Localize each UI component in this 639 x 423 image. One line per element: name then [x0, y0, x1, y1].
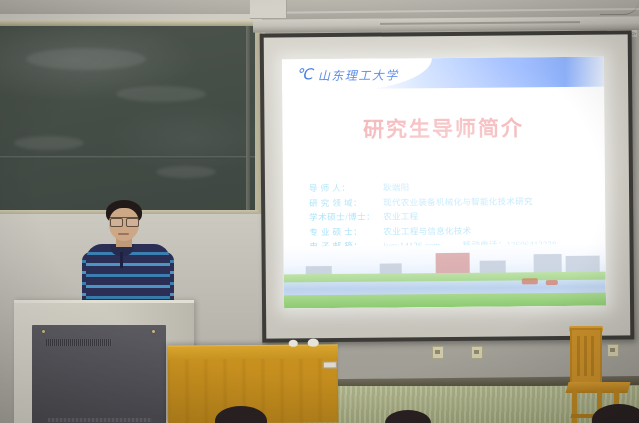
slide-row-value: 农业工程 [383, 209, 418, 224]
screen-roller-housing [250, 0, 287, 19]
slide-row-label: 研 究 领 域： [309, 195, 383, 210]
photo-building [534, 254, 562, 273]
chair-leg [572, 391, 577, 423]
wall-socket [432, 346, 444, 359]
desk-object [289, 340, 298, 347]
lecture-hall-photo: EMERGENCY ℃ 山东理工大学 研究生导师简介 导 师 人： 耿端阳 [0, 0, 639, 423]
blackboard [0, 26, 255, 214]
lectern-equipment-panel [32, 325, 166, 423]
chalk-smudge [116, 86, 206, 102]
chair-slat [584, 336, 587, 376]
desk-top-surface [168, 344, 338, 359]
wall-socket [471, 346, 483, 359]
logo-institution-name: 山东理工大学 [318, 66, 399, 84]
glasses-right-lens [126, 218, 139, 227]
photo-pavilion [546, 280, 558, 285]
slide-row-label: 导 师 人： [309, 181, 383, 196]
slide-row-value: 耿端阳 [383, 180, 410, 195]
lectern-vent-grille [46, 339, 112, 346]
presenter-mouth [118, 233, 129, 235]
photo-building [436, 253, 470, 274]
desk-nameplate [323, 361, 337, 368]
logo-mark-icon: ℃ [296, 68, 313, 83]
presentation-slide: ℃ 山东理工大学 研究生导师简介 导 师 人： 耿端阳 研 究 领 域： 现代农… [282, 57, 606, 309]
panel-screw [42, 330, 45, 333]
chalk-smudge [14, 136, 84, 150]
chalk-smudge [26, 48, 146, 70]
panel-screw [152, 330, 155, 333]
campus-panorama-photo [284, 244, 607, 309]
university-logo: ℃ 山东理工大学 [296, 63, 446, 86]
photo-pavilion [522, 278, 538, 284]
glasses-icon [109, 217, 139, 225]
lectern-label-strip [48, 418, 152, 422]
slide-row-label: 学术硕士/博士： [309, 210, 383, 225]
slide-row-label: 专 业 硕 士： [309, 224, 383, 239]
slide-row-value: 现代农业装备机械化与智能化技术研究 [383, 194, 533, 210]
slide-title: 研究生导师简介 [282, 112, 604, 145]
blackboard-horizontal-divider [0, 156, 255, 159]
blackboard-top-rail [0, 20, 262, 26]
slide-row-value: 农业工程与信息化技术 [383, 223, 471, 238]
photo-building [566, 256, 600, 273]
blackboard-vertical-divider [246, 26, 250, 214]
chalk-smudge [156, 166, 216, 178]
chair-slat [577, 336, 580, 376]
presenter-placket [120, 252, 123, 268]
projection-screen: ℃ 山东理工大学 研究生导师简介 导 师 人： 耿端阳 研 究 领 域： 现代农… [260, 30, 635, 342]
chair-slat [591, 336, 594, 376]
desk-object [308, 339, 319, 347]
glasses-left-lens [110, 218, 123, 227]
slide-body: 导 师 人： 耿端阳 研 究 领 域： 现代农业装备机械化与智能化技术研究 学术… [309, 179, 600, 254]
